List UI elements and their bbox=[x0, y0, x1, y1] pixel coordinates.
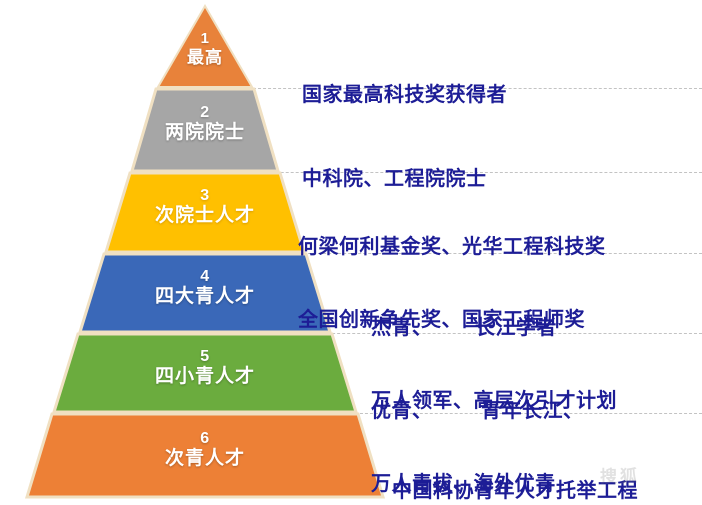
pyramid-tier-4[interactable] bbox=[80, 254, 330, 332]
pyramid-tier-3[interactable] bbox=[106, 173, 304, 252]
description-line: 杰青、 长江学者 bbox=[371, 316, 617, 340]
pyramid-infographic: 1 最高 2 两院院士 3 次院士人才 4 四大青人才 5 四小青人才 6 次青… bbox=[0, 0, 702, 505]
description-line: 国家最高科技奖获得者 bbox=[302, 83, 507, 107]
pyramid-tier-6[interactable] bbox=[27, 414, 383, 497]
description-line: 何梁何利基金奖、光华工程科技奖 bbox=[298, 235, 606, 259]
pyramid-tier-2[interactable] bbox=[132, 89, 278, 171]
description-line: 中国科协青年人才托举工程 bbox=[392, 479, 638, 503]
description-tier-6: 中国科协青年人才托举工程 博士后创新人才支持计划 bbox=[392, 430, 638, 505]
pyramid-tier-1[interactable] bbox=[158, 6, 252, 87]
description-line: 优青、 青年长江、 bbox=[371, 399, 583, 423]
